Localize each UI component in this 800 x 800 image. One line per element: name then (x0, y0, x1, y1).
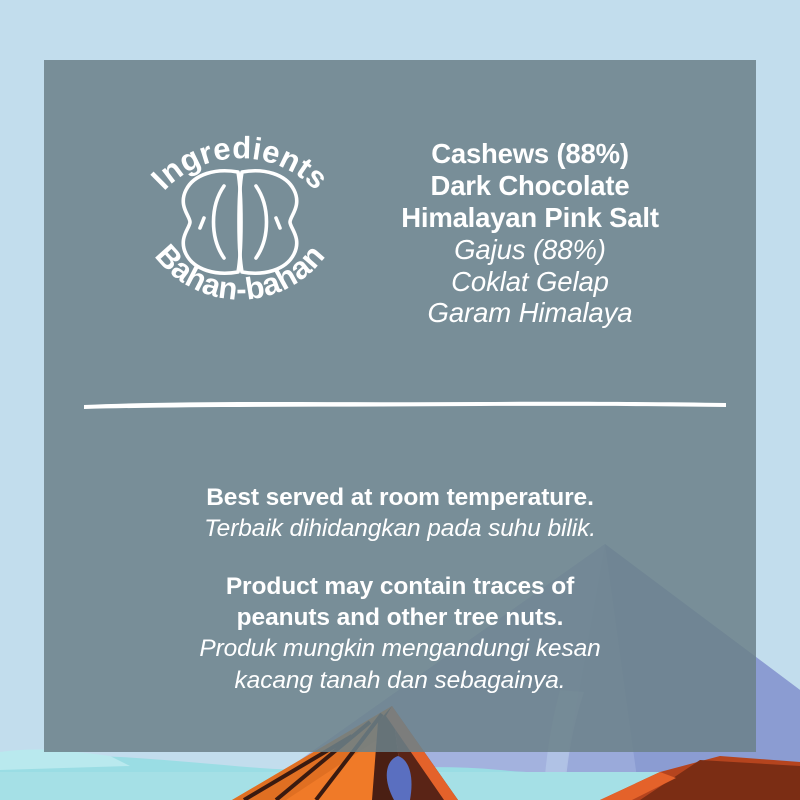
serving-notes: Best served at room temperature. Terbaik… (120, 482, 680, 696)
ingredient-en-3: Himalayan Pink Salt (370, 202, 690, 234)
note-allergen-ms-line1: Produk mungkin mengandungi kesan (120, 633, 680, 664)
note-serving: Best served at room temperature. Terbaik… (120, 482, 680, 545)
ingredients-list: Cashews (88%) Dark Chocolate Himalayan P… (370, 138, 690, 329)
note-allergen: Product may contain traces of peanuts an… (120, 571, 680, 696)
ingredient-ms-1: Gajus (88%) (370, 234, 690, 266)
note-allergen-ms-line2: kacang tanah dan sebagainya. (120, 665, 680, 696)
ingredients-badge: Ingredients Bahan-bahan (120, 110, 360, 330)
hand-drawn-rule (80, 392, 730, 416)
note-serving-ms: Terbaik dihidangkan pada suhu bilik. (120, 513, 680, 544)
rule-stroke (84, 402, 726, 409)
note-serving-en: Best served at room temperature. (120, 482, 680, 513)
note-allergen-en-line1: Product may contain traces of (120, 571, 680, 602)
ingredient-en-1: Cashews (88%) (370, 138, 690, 170)
ingredient-en-2: Dark Chocolate (370, 170, 690, 202)
poster-canvas: Ingredients Bahan-bahan Cashews (88%) Da… (0, 0, 800, 800)
ingredient-ms-3: Garam Himalaya (370, 297, 690, 329)
cashew-nuts-icon (183, 171, 297, 273)
ingredient-ms-2: Coklat Gelap (370, 266, 690, 298)
note-allergen-en-line2: peanuts and other tree nuts. (120, 602, 680, 633)
